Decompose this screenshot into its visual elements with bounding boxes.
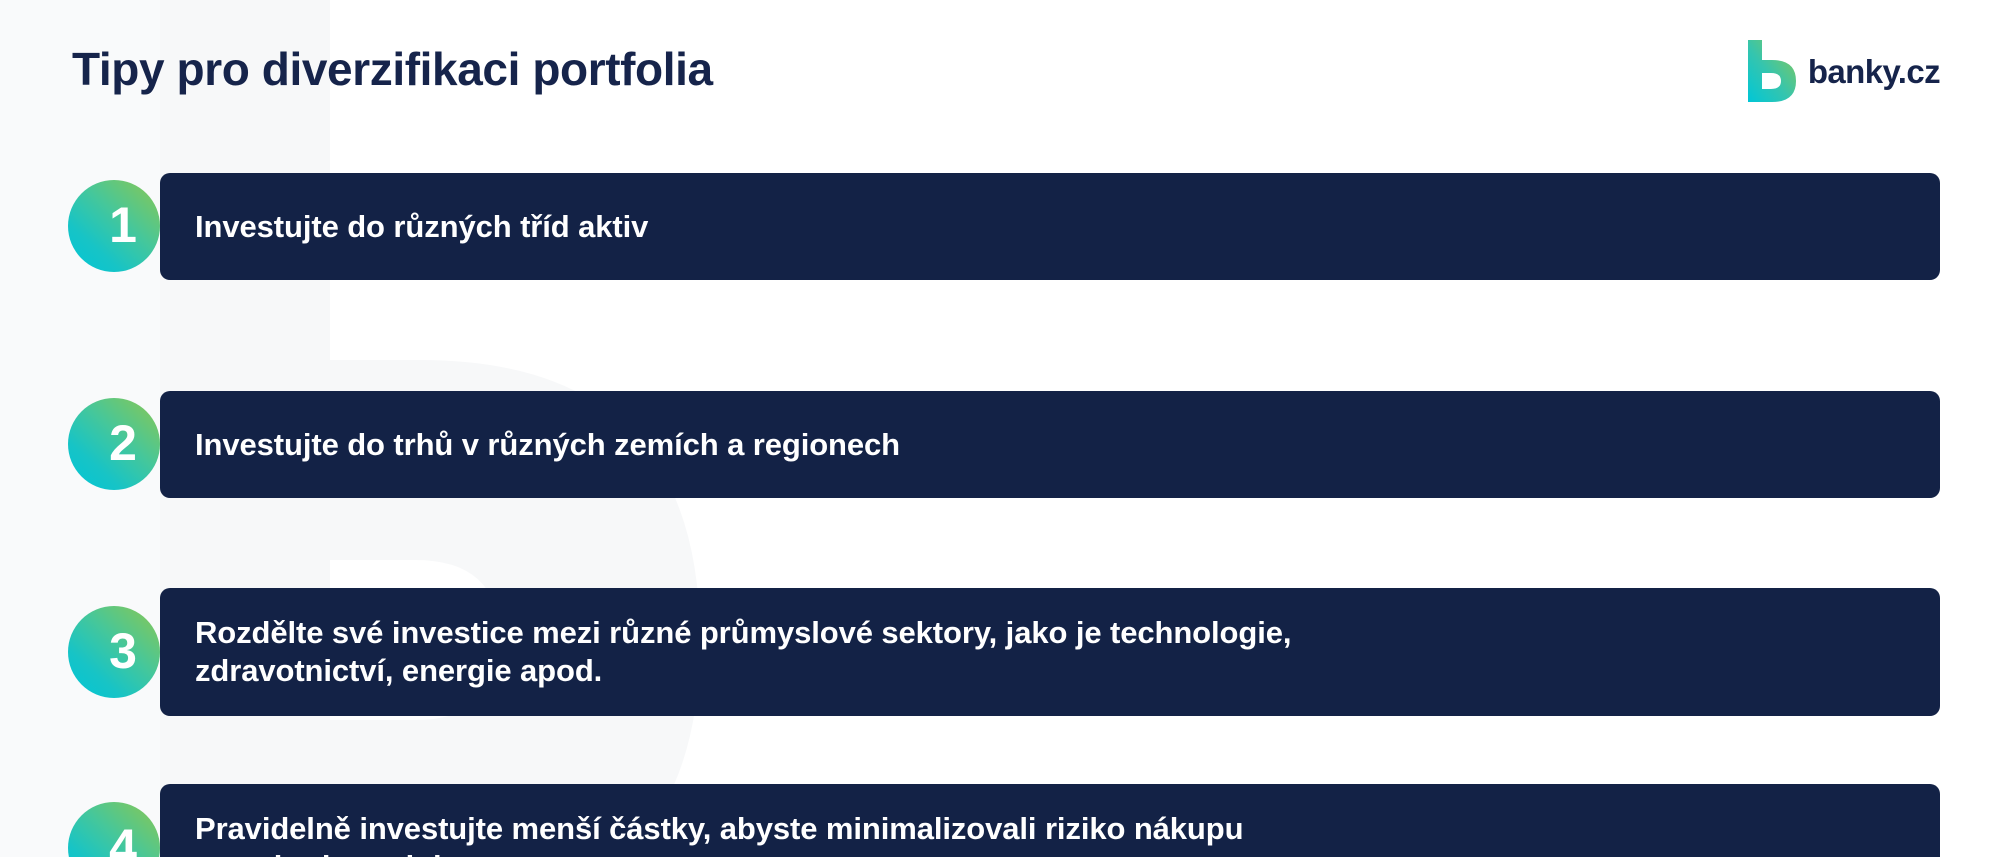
tips-list: Investujte do různých tříd aktiv 1 Inves… bbox=[0, 130, 2000, 857]
tip-text: Rozdělte své investice mezi různé průmys… bbox=[160, 614, 1321, 690]
tip-number: 3 bbox=[109, 626, 137, 676]
tip-number-badge: 3 bbox=[68, 606, 160, 698]
banky-b-logo-icon bbox=[1742, 40, 1796, 102]
tip-number: 1 bbox=[109, 200, 137, 250]
tip-row: Pravidelně investujte menší částky, abys… bbox=[0, 762, 2000, 857]
tip-number-badge: 1 bbox=[68, 180, 160, 272]
tip-number-badge: 4 bbox=[68, 802, 160, 857]
tip-text: Pravidelně investujte menší částky, abys… bbox=[160, 810, 1273, 857]
infographic-canvas: Tipy pro diverzifikaci portfolia banky.c… bbox=[0, 0, 2000, 857]
tip-text: Investujte do trhů v různých zemích a re… bbox=[160, 426, 930, 464]
tip-text: Investujte do různých tříd aktiv bbox=[160, 208, 678, 246]
brand-logo[interactable]: banky.cz bbox=[1742, 40, 1940, 102]
tip-row: Rozdělte své investice mezi různé průmys… bbox=[0, 566, 2000, 739]
tip-number: 4 bbox=[109, 822, 137, 857]
tip-row: Investujte do různých tříd aktiv 1 bbox=[0, 130, 2000, 325]
brand-logo-text: banky.cz bbox=[1808, 55, 1940, 88]
page-header: Tipy pro diverzifikaci portfolia banky.c… bbox=[0, 0, 2000, 140]
page-title: Tipy pro diverzifikaci portfolia bbox=[72, 42, 713, 96]
tip-row: Investujte do trhů v různých zemích a re… bbox=[0, 348, 2000, 543]
tip-bar: Pravidelně investujte menší částky, abys… bbox=[160, 784, 1940, 857]
tip-bar: Rozdělte své investice mezi různé průmys… bbox=[160, 588, 1940, 716]
tip-number: 2 bbox=[109, 418, 137, 468]
tip-bar: Investujte do různých tříd aktiv bbox=[160, 173, 1940, 280]
tip-bar: Investujte do trhů v různých zemích a re… bbox=[160, 391, 1940, 498]
tip-number-badge: 2 bbox=[68, 398, 160, 490]
